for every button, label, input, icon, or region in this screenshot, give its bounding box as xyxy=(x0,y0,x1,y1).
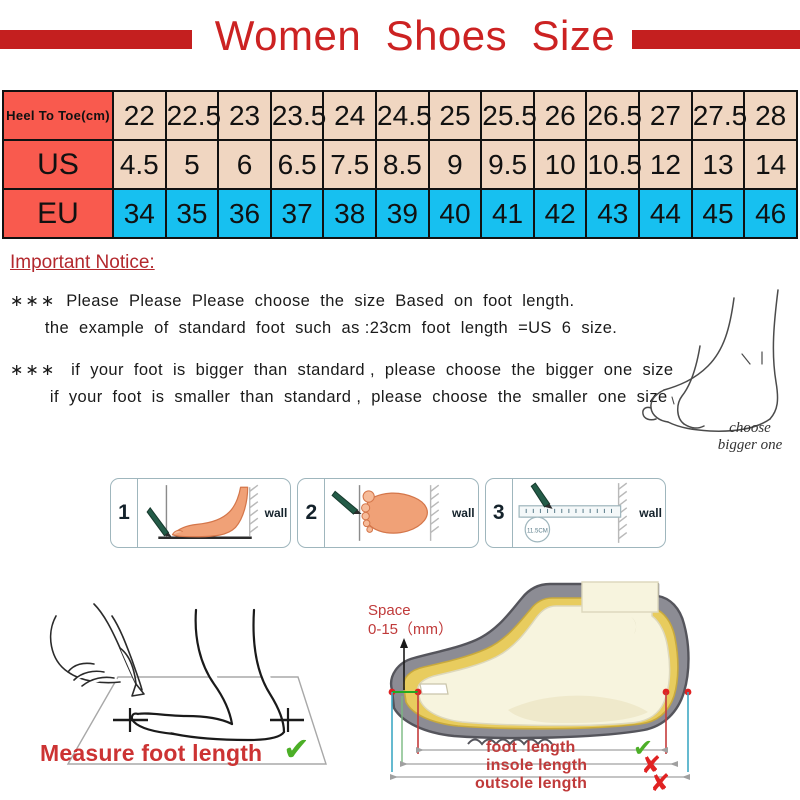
cell-us-8: 10 xyxy=(534,140,587,189)
table-row-us: US 4.5 5 6 6.5 7.5 8.5 9 9.5 10 10.5 12 … xyxy=(3,140,797,189)
cell-eu-4: 38 xyxy=(323,189,376,238)
notice-text-1b: the example of standard foot such as :23… xyxy=(45,319,617,337)
cell-eu-5: 39 xyxy=(376,189,429,238)
cell-cm-8: 26 xyxy=(534,91,587,140)
cell-eu-11: 45 xyxy=(692,189,745,238)
cell-us-0: 4.5 xyxy=(113,140,166,189)
cell-eu-3: 37 xyxy=(271,189,324,238)
title-rule-left xyxy=(0,30,192,49)
cell-eu-7: 41 xyxy=(481,189,534,238)
cell-us-10: 12 xyxy=(639,140,692,189)
wall-label-2: wall xyxy=(452,506,475,520)
caption-line-2: bigger one xyxy=(718,437,783,453)
cell-us-4: 7.5 xyxy=(323,140,376,189)
cell-cm-5: 24.5 xyxy=(376,91,429,140)
notice-block-2: ∗∗∗ if your foot is bigger than standard… xyxy=(10,357,710,410)
notice-text-2a: if your foot is bigger than standard , p… xyxy=(71,361,673,379)
notice-stars-2: ∗∗∗ xyxy=(10,362,56,379)
cell-cm-11: 27.5 xyxy=(692,91,745,140)
space-label-line-2: 0-15（mm） xyxy=(368,621,453,638)
cell-cm-3: 23.5 xyxy=(271,91,324,140)
notice-block-1: ∗∗∗ Please Please Please choose the size… xyxy=(10,288,710,341)
cell-us-2: 6 xyxy=(218,140,271,189)
cell-eu-2: 36 xyxy=(218,189,271,238)
cell-cm-12: 28 xyxy=(744,91,797,140)
notice-line-2b: if your foot is smaller than standard , … xyxy=(10,384,710,410)
step-art-ruler: 11.5CM wall xyxy=(513,479,665,547)
page-title: Women Shoes Size xyxy=(190,8,640,64)
cell-eu-12: 46 xyxy=(744,189,797,238)
cell-cm-7: 25.5 xyxy=(481,91,534,140)
step-art-side-foot: wall xyxy=(138,479,290,547)
notice-text-1a: Please Please Please choose the size Bas… xyxy=(66,292,574,310)
label-insole-length: insole length xyxy=(486,757,587,775)
ruler-value: 11.5CM xyxy=(527,528,548,535)
row-label-heel-to-toe: Heel To Toe(cm) xyxy=(3,91,113,140)
wall-label-3: wall xyxy=(639,506,662,520)
cell-cm-1: 22.5 xyxy=(166,91,219,140)
notice-line-1b: the example of standard foot such as :23… xyxy=(10,315,710,341)
foot-sketch-caption: choose bigger one xyxy=(700,420,800,454)
cell-cm-10: 27 xyxy=(639,91,692,140)
step-panel-2: 2 xyxy=(297,478,478,548)
step-number-1: 1 xyxy=(111,479,138,547)
measurement-steps: 1 xyxy=(110,478,666,548)
cell-cm-2: 23 xyxy=(218,91,271,140)
cell-us-7: 9.5 xyxy=(481,140,534,189)
row-label-us: US xyxy=(3,140,113,189)
cell-us-6: 9 xyxy=(429,140,482,189)
cell-us-3: 6.5 xyxy=(271,140,324,189)
cell-us-1: 5 xyxy=(166,140,219,189)
cell-us-11: 13 xyxy=(692,140,745,189)
space-label-line-1: Space xyxy=(368,602,411,619)
cell-us-5: 8.5 xyxy=(376,140,429,189)
wall-label-1: wall xyxy=(265,506,288,520)
step-number-3: 3 xyxy=(486,479,513,547)
step-art-top-foot: wall xyxy=(325,479,477,547)
size-conversion-table: Heel To Toe(cm) 22 22.5 23 23.5 24 24.5 … xyxy=(2,90,798,239)
cell-eu-10: 44 xyxy=(639,189,692,238)
table-row-heel-to-toe: Heel To Toe(cm) 22 22.5 23 23.5 24 24.5 … xyxy=(3,91,797,140)
label-outsole-length: outsole length xyxy=(475,775,587,793)
cell-eu-1: 35 xyxy=(166,189,219,238)
notice-heading: Important Notice: xyxy=(10,252,710,274)
size-chart-page: Women Shoes Size Heel To Toe(cm) 22 22.5… xyxy=(0,0,800,800)
row-label-eu: EU xyxy=(3,189,113,238)
notice-stars-1: ∗∗∗ xyxy=(10,293,56,310)
table-row-eu: EU 34 35 36 37 38 39 40 41 42 43 44 45 4… xyxy=(3,189,797,238)
cell-cm-4: 24 xyxy=(323,91,376,140)
cell-eu-8: 42 xyxy=(534,189,587,238)
cell-us-12: 14 xyxy=(744,140,797,189)
cell-eu-9: 43 xyxy=(586,189,639,238)
step-panel-3: 3 xyxy=(485,478,666,548)
cell-cm-0: 22 xyxy=(113,91,166,140)
cell-us-9: 10.5 xyxy=(586,140,639,189)
notice-text-2b: if your foot is smaller than standard , … xyxy=(50,388,668,406)
step-number-2: 2 xyxy=(298,479,325,547)
notice-line-2a: ∗∗∗ if your foot is bigger than standard… xyxy=(10,357,710,384)
notice-line-1a: ∗∗∗ Please Please Please choose the size… xyxy=(10,288,710,315)
cell-eu-0: 34 xyxy=(113,189,166,238)
cell-cm-6: 25 xyxy=(429,91,482,140)
cross-icon-outsole-length: ✘ xyxy=(650,771,670,795)
measure-caption: Measure foot length xyxy=(40,740,262,767)
cell-eu-6: 40 xyxy=(429,189,482,238)
step-panel-1: 1 xyxy=(110,478,291,548)
caption-line-1: choose xyxy=(729,420,771,436)
important-notice: Important Notice: ∗∗∗ Please Please Plea… xyxy=(10,252,710,426)
cell-cm-9: 26.5 xyxy=(586,91,639,140)
title-rule-right xyxy=(632,30,800,49)
space-label: Space 0-15（mm） xyxy=(368,601,453,639)
title-banner: Women Shoes Size xyxy=(0,14,800,70)
check-icon: ✔ xyxy=(283,733,310,765)
label-foot-length: foot length xyxy=(486,739,576,757)
